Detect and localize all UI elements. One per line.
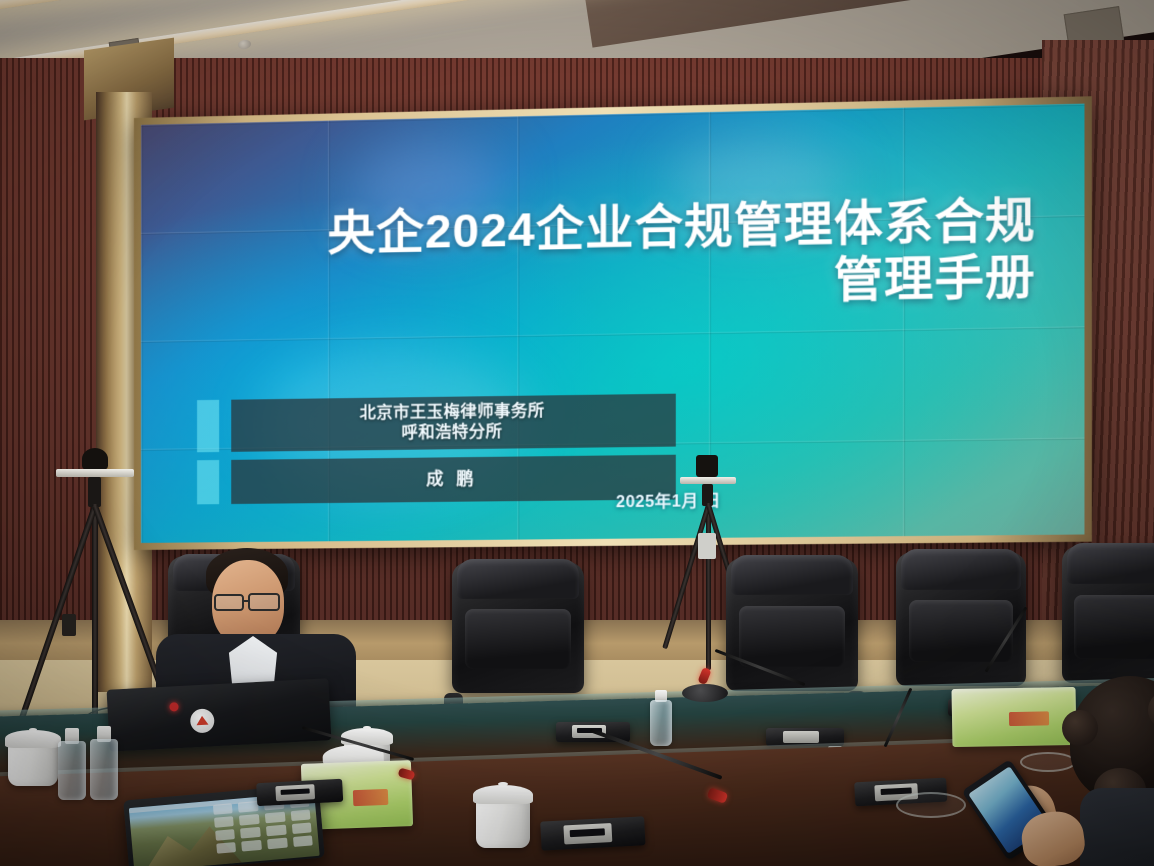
bottle-2[interactable] (90, 726, 118, 800)
desktop-icon[interactable] (213, 803, 233, 815)
attendee-torso (1080, 788, 1154, 866)
chair-headrest (1067, 543, 1154, 584)
tripod-left-clamp (62, 614, 76, 636)
attendee-hair-curl-1 (1062, 710, 1098, 746)
bottle-body (650, 700, 672, 746)
bottle-body (90, 739, 118, 800)
teacup-lid-knob (498, 782, 508, 786)
chair-headrest (457, 559, 578, 598)
chair-lumbar-pad (739, 606, 845, 667)
chair-back (726, 558, 858, 691)
tripod-cross-bar-center (680, 477, 736, 484)
desktop-icon[interactable] (290, 809, 310, 821)
table-speaker-puck (682, 684, 728, 702)
mic-faceplate (783, 731, 819, 743)
mic-2[interactable] (538, 783, 645, 850)
presenter-glasses-right-lens-icon (248, 593, 280, 611)
presenter-glasses-bridge-icon (244, 600, 250, 602)
teacup-3[interactable] (476, 782, 530, 848)
desktop-icon[interactable] (267, 838, 287, 850)
teacup-lid (473, 785, 533, 805)
tripod-cross-bar-left (56, 469, 134, 477)
desktop-icon[interactable] (216, 842, 236, 854)
teacup-body (8, 744, 58, 786)
bottle-3[interactable] (650, 690, 672, 746)
meeting-room-photo: 央企2024企业合规管理体系合规 管理手册 北京市王玉梅律师事务所 呼和浩特分所… (0, 0, 1154, 866)
desktop-icon[interactable] (214, 816, 234, 828)
camera-head-center-icon (696, 455, 718, 477)
video-wall-frame: 央企2024企业合规管理体系合规 管理手册 北京市王玉梅律师事务所 呼和浩特分所… (134, 96, 1092, 550)
mic-3[interactable] (556, 698, 630, 742)
slide-presenter-box: 成 鹏 (231, 455, 676, 504)
presenter-glasses-left-lens-icon (214, 594, 244, 611)
tripod-center-clamp (698, 533, 716, 559)
tripod-center-leg-mid (706, 503, 711, 670)
slide-credits: 北京市王玉梅律师事务所 呼和浩特分所 成 鹏 (197, 394, 676, 513)
slide-presenter-row: 成 鹏 (197, 455, 676, 505)
desktop-icon[interactable] (265, 812, 285, 824)
desktop-icon[interactable] (242, 840, 262, 852)
teacup-lid-knob (29, 728, 38, 731)
teacup-1[interactable] (8, 728, 58, 786)
teacup-body (476, 800, 530, 848)
desktop-icon[interactable] (215, 829, 235, 841)
desktop-icon[interactable] (292, 822, 312, 834)
slide-firm-row: 北京市王玉梅律师事务所 呼和浩特分所 (197, 394, 676, 453)
desktop-icon[interactable] (240, 827, 260, 839)
led-video-wall[interactable]: 央企2024企业合规管理体系合规 管理手册 北京市王玉梅律师事务所 呼和浩特分所… (141, 104, 1084, 543)
teacup-lid (5, 730, 61, 747)
tissue-box-logo-icon (352, 789, 388, 806)
desktop-icon[interactable] (238, 801, 258, 813)
desktop-icon[interactable] (239, 814, 259, 826)
chair-lumbar-pad (465, 609, 571, 669)
slide-presenter-name: 成 鹏 (426, 468, 478, 491)
slide-firm-box: 北京市王玉梅律师事务所 呼和浩特分所 (231, 394, 676, 452)
chair-lumbar-pad (1074, 595, 1154, 658)
laptop-power-indicator-icon (169, 702, 178, 711)
chair-headrest (731, 555, 852, 595)
desktop-icon-grid[interactable] (213, 796, 314, 861)
slide-accent-tab-presenter (197, 460, 219, 504)
bottle-1[interactable] (58, 728, 86, 800)
chair-back (1062, 546, 1154, 683)
slide-firm-line-1: 北京市王玉梅律师事务所 (360, 401, 545, 424)
bottle-body (58, 741, 86, 800)
chair-headrest (901, 549, 1021, 589)
desktop-icon[interactable] (266, 825, 286, 837)
table-coaster (896, 792, 966, 818)
slide-accent-tab-firm (197, 400, 219, 452)
tripod-head-left (88, 477, 101, 507)
desktop-icon[interactable] (293, 836, 313, 848)
mic-1[interactable] (255, 752, 343, 806)
chair-back (896, 552, 1026, 686)
slide-firm-line-2: 呼和浩特分所 (402, 422, 503, 444)
slide-title: 央企2024企业合规管理体系合规 管理手册 (201, 191, 1036, 319)
laptop-closed[interactable] (107, 678, 332, 752)
mic-4[interactable] (766, 706, 844, 746)
laptop-brand-logo-icon (190, 708, 215, 733)
camera-head-left-icon (82, 448, 108, 470)
teacup-lid-knob (363, 726, 371, 729)
chair-back (452, 562, 584, 693)
